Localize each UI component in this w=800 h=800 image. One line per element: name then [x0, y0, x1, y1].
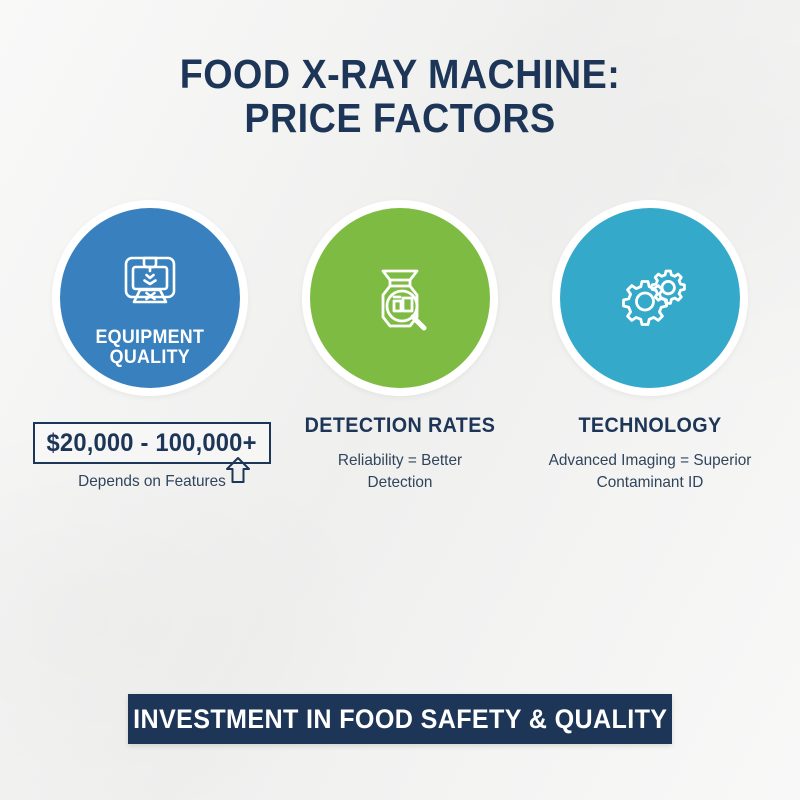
factor-card-equipment-quality[interactable]: EQUIPMENT QUALITY $20,000 - 100,000+ Dep… — [25, 200, 275, 396]
caption-subtitle: Reliability = Better Detection — [280, 450, 520, 493]
page-title-line-2: PRICE FACTORS — [32, 96, 768, 140]
xray-machine-icon — [112, 244, 188, 320]
price-badge[interactable]: $20,000 - 100,000+ — [33, 422, 271, 464]
caption-title: DETECTION RATES — [283, 414, 518, 438]
factor-circle-equipment-quality[interactable]: EQUIPMENT QUALITY — [52, 200, 248, 396]
price-note: Depends on Features — [38, 473, 266, 491]
circle-body-technology — [560, 208, 740, 388]
page-title: FOOD X-RAY MACHINE: PRICE FACTORS — [32, 52, 768, 141]
footer-banner-text: INVESTMENT IN FOOD SAFETY & QUALITY — [133, 704, 667, 735]
circle-label-line-1: EQUIPMENT — [96, 328, 205, 348]
circle-label-equipment-quality: EQUIPMENT QUALITY — [96, 328, 205, 368]
factor-circle-technology[interactable] — [552, 200, 748, 396]
caption-subtitle: Advanced Imaging = Superior Contaminant … — [530, 450, 770, 493]
caption-subtitle-line-2: Detection — [280, 472, 520, 494]
gears-icon — [612, 260, 688, 336]
circle-body-detection-rates — [310, 208, 490, 388]
factors-row: EQUIPMENT QUALITY $20,000 - 100,000+ Dep… — [0, 200, 800, 620]
caption-subtitle-line-1: Reliability = Better — [280, 450, 520, 472]
factor-card-detection-rates[interactable]: DETECTION RATES Reliability = Better Det… — [275, 200, 525, 493]
caption-title: TECHNOLOGY — [533, 414, 768, 438]
page-title-line-1: FOOD X-RAY MACHINE: — [32, 52, 768, 96]
food-bag-magnifier-icon — [362, 260, 438, 336]
caption-subtitle-line-2: Contaminant ID — [530, 472, 770, 494]
circle-body-equipment-quality: EQUIPMENT QUALITY — [60, 208, 240, 388]
caption-subtitle-line-1: Advanced Imaging = Superior — [530, 450, 770, 472]
caption-detection-rates: DETECTION RATES Reliability = Better Det… — [275, 414, 525, 493]
infographic-canvas: FOOD X-RAY MACHINE: PRICE FACTORS — [0, 0, 800, 800]
circle-label-line-2: QUALITY — [96, 348, 205, 368]
caption-technology: TECHNOLOGY Advanced Imaging = Superior C… — [525, 414, 775, 493]
factor-card-technology[interactable]: TECHNOLOGY Advanced Imaging = Superior C… — [525, 200, 775, 493]
factor-circle-detection-rates[interactable] — [302, 200, 498, 396]
price-value: $20,000 - 100,000+ — [47, 429, 257, 458]
footer-banner: INVESTMENT IN FOOD SAFETY & QUALITY — [128, 694, 672, 744]
price-block: $20,000 - 100,000+ Depends on Features — [33, 422, 271, 491]
